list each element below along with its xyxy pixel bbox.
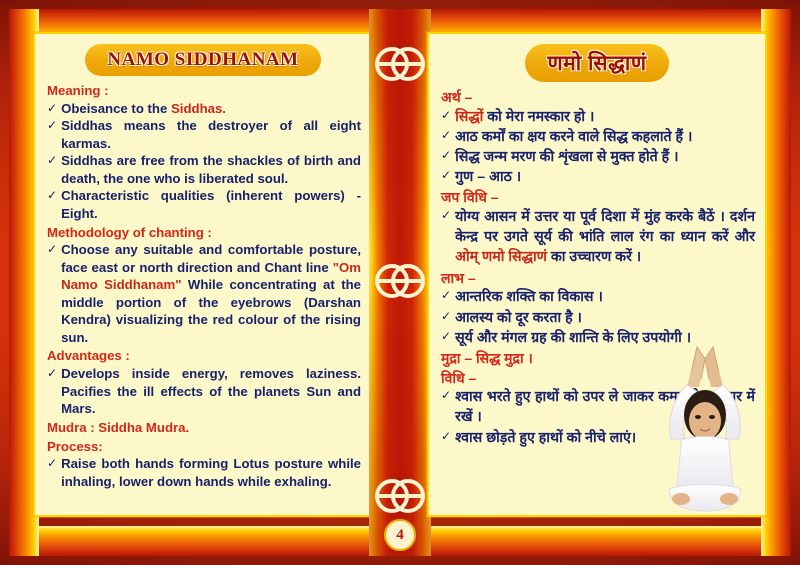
right-title-banner: णमो सिद्धाणं bbox=[525, 44, 668, 82]
list-item: ✓Characteristic qualities (inherent powe… bbox=[47, 187, 361, 222]
text-segment: को मेरा नमस्कार हो । bbox=[483, 109, 594, 125]
list-item-text: योग्य आसन में उत्तर या पूर्व दिशा में मु… bbox=[455, 207, 755, 267]
text-segment: सूर्य और मंगल ग्रह की शान्ति के लिए उपयो… bbox=[455, 330, 691, 346]
text-segment: का उच्चारण करें । bbox=[547, 249, 641, 265]
list-item-text: Siddhas means the destroyer of all eight… bbox=[61, 117, 361, 152]
highlighted-term: Siddhas. bbox=[171, 101, 226, 116]
list-item: ✓श्वास छोड़ते हुए हाथों को नीचे लाएं। bbox=[441, 428, 755, 448]
text-segment: Obeisance to the bbox=[61, 101, 171, 116]
list-item-text: Obeisance to the Siddhas. bbox=[61, 100, 361, 118]
checkmark-icon: ✓ bbox=[441, 207, 451, 224]
text-segment: Raise both hands forming Lotus posture w… bbox=[61, 456, 361, 489]
text-segment: Develops inside energy, removes laziness… bbox=[61, 366, 361, 416]
text-segment: Choose any suitable and comfortable post… bbox=[61, 242, 361, 275]
section-heading: विधि – bbox=[441, 369, 755, 388]
page-number: 4 bbox=[384, 519, 416, 551]
checkmark-icon: ✓ bbox=[441, 167, 451, 184]
left-panel-body: Meaning :✓Obeisance to the Siddhas.✓Sidd… bbox=[35, 82, 371, 490]
list-item-text: श्वास भरते हुए हाथों को उपर ले जाकर कमल … bbox=[455, 387, 755, 427]
list-item-text: सूर्य और मंगल ग्रह की शान्ति के लिए उपयो… bbox=[455, 328, 755, 348]
interlocking-rings-icon bbox=[373, 38, 427, 90]
section-heading: Process: bbox=[47, 438, 361, 456]
list-item: ✓आठ कर्मों का क्षय करने वाले सिद्ध कहलात… bbox=[441, 127, 755, 147]
text-segment: Siddhas means the destroyer of all eight… bbox=[61, 118, 361, 151]
left-title-banner: NAMO SIDDHANAM bbox=[85, 44, 320, 76]
section-heading: Mudra : Siddha Mudra. bbox=[47, 419, 361, 437]
text-segment: Siddhas are free from the shackles of bi… bbox=[61, 153, 361, 186]
checkmark-icon: ✓ bbox=[47, 152, 57, 169]
checkmark-icon: ✓ bbox=[47, 241, 57, 258]
list-item: ✓योग्य आसन में उत्तर या पूर्व दिशा में म… bbox=[441, 207, 755, 267]
checkmark-icon: ✓ bbox=[441, 127, 451, 144]
list-item: ✓Choose any suitable and comfortable pos… bbox=[47, 241, 361, 346]
checkmark-icon: ✓ bbox=[47, 187, 57, 204]
list-item: ✓आन्तरिक शक्ति का विकास । bbox=[441, 287, 755, 307]
list-item-text: आन्तरिक शक्ति का विकास । bbox=[455, 287, 755, 307]
checkmark-icon: ✓ bbox=[47, 117, 57, 134]
list-item: ✓Siddhas are free from the shackles of b… bbox=[47, 152, 361, 187]
section-heading: अर्थ – bbox=[441, 88, 755, 107]
checkmark-icon: ✓ bbox=[441, 308, 451, 325]
list-item-text: Develops inside energy, removes laziness… bbox=[61, 365, 361, 418]
list-item: ✓Raise both hands forming Lotus posture … bbox=[47, 455, 361, 490]
text-segment: सिद्ध जन्म मरण की शृंखला से मुक्त होते ह… bbox=[455, 149, 678, 165]
list-item-text: Choose any suitable and comfortable post… bbox=[61, 241, 361, 346]
checkmark-icon: ✓ bbox=[441, 387, 451, 404]
text-segment: योग्य आसन में उत्तर या पूर्व दिशा में मु… bbox=[455, 209, 755, 245]
list-item: ✓आलस्य को दूर करता है । bbox=[441, 308, 755, 328]
list-item: ✓सिद्ध जन्म मरण की शृंखला से मुक्त होते … bbox=[441, 147, 755, 167]
list-item: ✓सिद्धों को मेरा नमस्कार हो । bbox=[441, 107, 755, 127]
list-item-text: सिद्धों को मेरा नमस्कार हो । bbox=[455, 107, 755, 127]
left-content-panel: NAMO SIDDHANAM Meaning :✓Obeisance to th… bbox=[33, 32, 373, 517]
right-content-panel: णमो सिद्धाणं अर्थ –✓सिद्धों को मेरा नमस्… bbox=[427, 32, 767, 517]
left-panel-title: NAMO SIDDHANAM bbox=[107, 49, 298, 71]
list-item-text: Raise both hands forming Lotus posture w… bbox=[61, 455, 361, 490]
text-segment: आठ कर्मों का क्षय करने वाले सिद्ध कहलाते… bbox=[455, 129, 692, 145]
right-panel-title: णमो सिद्धाणं bbox=[547, 49, 646, 77]
list-item-text: आलस्य को दूर करता है । bbox=[455, 308, 755, 328]
checkmark-icon: ✓ bbox=[441, 328, 451, 345]
section-heading: जप विधि – bbox=[441, 188, 755, 207]
text-segment: श्वास छोड़ते हुए हाथों को नीचे लाएं। bbox=[455, 430, 636, 446]
text-segment: श्वास भरते हुए हाथों को उपर ले जाकर कमल … bbox=[455, 389, 755, 425]
section-heading: Meaning : bbox=[47, 82, 361, 100]
list-item: ✓Siddhas means the destroyer of all eigh… bbox=[47, 117, 361, 152]
highlighted-term: सिद्धों bbox=[455, 109, 483, 125]
section-heading: लाभ – bbox=[441, 269, 755, 288]
list-item-text: गुण – आठ । bbox=[455, 167, 755, 187]
list-item: ✓गुण – आठ । bbox=[441, 167, 755, 187]
interlocking-rings-icon bbox=[373, 470, 427, 522]
list-item-text: Siddhas are free from the shackles of bi… bbox=[61, 152, 361, 187]
text-segment: Characteristic qualities (inherent power… bbox=[61, 188, 361, 221]
section-heading: मुद्रा – सिद्ध मुद्रा । bbox=[441, 349, 755, 368]
checkmark-icon: ✓ bbox=[47, 100, 57, 117]
interlocking-rings-icon bbox=[373, 255, 427, 307]
list-item-text: सिद्ध जन्म मरण की शृंखला से मुक्त होते ह… bbox=[455, 147, 755, 167]
list-item: ✓Develops inside energy, removes lazines… bbox=[47, 365, 361, 418]
text-segment: आन्तरिक शक्ति का विकास । bbox=[455, 289, 603, 305]
text-segment: आलस्य को दूर करता है । bbox=[455, 310, 582, 326]
checkmark-icon: ✓ bbox=[47, 455, 57, 472]
book-page: NAMO SIDDHANAM Meaning :✓Obeisance to th… bbox=[0, 0, 800, 565]
checkmark-icon: ✓ bbox=[441, 287, 451, 304]
list-item-text: आठ कर्मों का क्षय करने वाले सिद्ध कहलाते… bbox=[455, 127, 755, 147]
list-item: ✓Obeisance to the Siddhas. bbox=[47, 100, 361, 118]
checkmark-icon: ✓ bbox=[441, 147, 451, 164]
list-item: ✓सूर्य और मंगल ग्रह की शान्ति के लिए उपय… bbox=[441, 328, 755, 348]
list-item: ✓श्वास भरते हुए हाथों को उपर ले जाकर कमल… bbox=[441, 387, 755, 427]
checkmark-icon: ✓ bbox=[441, 107, 451, 124]
right-panel-body: अर्थ –✓सिद्धों को मेरा नमस्कार हो ।✓आठ क… bbox=[429, 88, 765, 448]
highlighted-term: ओम् णमो सिद्धाणं bbox=[455, 249, 547, 265]
section-heading: Advantages : bbox=[47, 347, 361, 365]
list-item-text: Characteristic qualities (inherent power… bbox=[61, 187, 361, 222]
section-heading: Methodology of chanting : bbox=[47, 224, 361, 242]
checkmark-icon: ✓ bbox=[441, 428, 451, 445]
text-segment: गुण – आठ । bbox=[455, 169, 521, 185]
list-item-text: श्वास छोड़ते हुए हाथों को नीचे लाएं। bbox=[455, 428, 755, 448]
checkmark-icon: ✓ bbox=[47, 365, 57, 382]
